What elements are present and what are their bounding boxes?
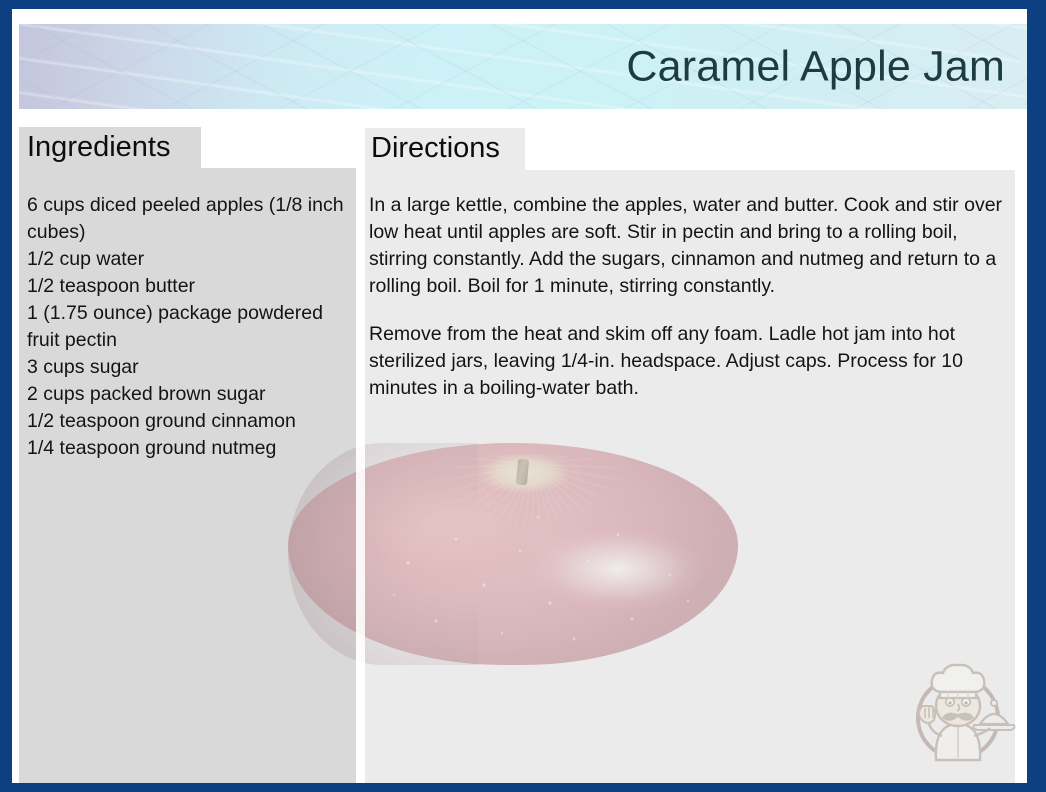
list-item: 1/2 teaspoon ground cinnamon: [27, 408, 347, 435]
list-item: 1/2 cup water: [27, 246, 347, 273]
frame-border-top: [0, 0, 1046, 9]
directions-heading: Directions: [371, 132, 500, 165]
directions-paragraph: Remove from the heat and skim off any fo…: [369, 321, 1017, 402]
ingredients-list: 6 cups diced peeled apples (1/8 inch cub…: [27, 192, 347, 462]
list-item: 3 cups sugar: [27, 354, 347, 381]
frame-border-bottom: [0, 783, 1046, 792]
list-item: 6 cups diced peeled apples (1/8 inch cub…: [27, 192, 347, 246]
column-gap-divider: [356, 168, 365, 783]
list-item: 2 cups packed brown sugar: [27, 381, 347, 408]
title-banner: Caramel Apple Jam: [19, 24, 1027, 109]
directions-paragraph: In a large kettle, combine the apples, w…: [369, 192, 1017, 300]
frame-border-left: [0, 0, 12, 792]
list-item: 1 (1.75 ounce) package powdered fruit pe…: [27, 300, 347, 354]
ingredients-heading: Ingredients: [27, 131, 171, 164]
directions-text: In a large kettle, combine the apples, w…: [369, 192, 1017, 402]
list-item: 1/4 teaspoon ground nutmeg: [27, 435, 347, 462]
list-item: 1/2 teaspoon butter: [27, 273, 347, 300]
frame-border-right: [1027, 0, 1046, 792]
recipe-card-page: Caramel Apple Jam Ingredients 6 cups dic…: [0, 0, 1046, 792]
recipe-title: Caramel Apple Jam: [626, 44, 1005, 89]
